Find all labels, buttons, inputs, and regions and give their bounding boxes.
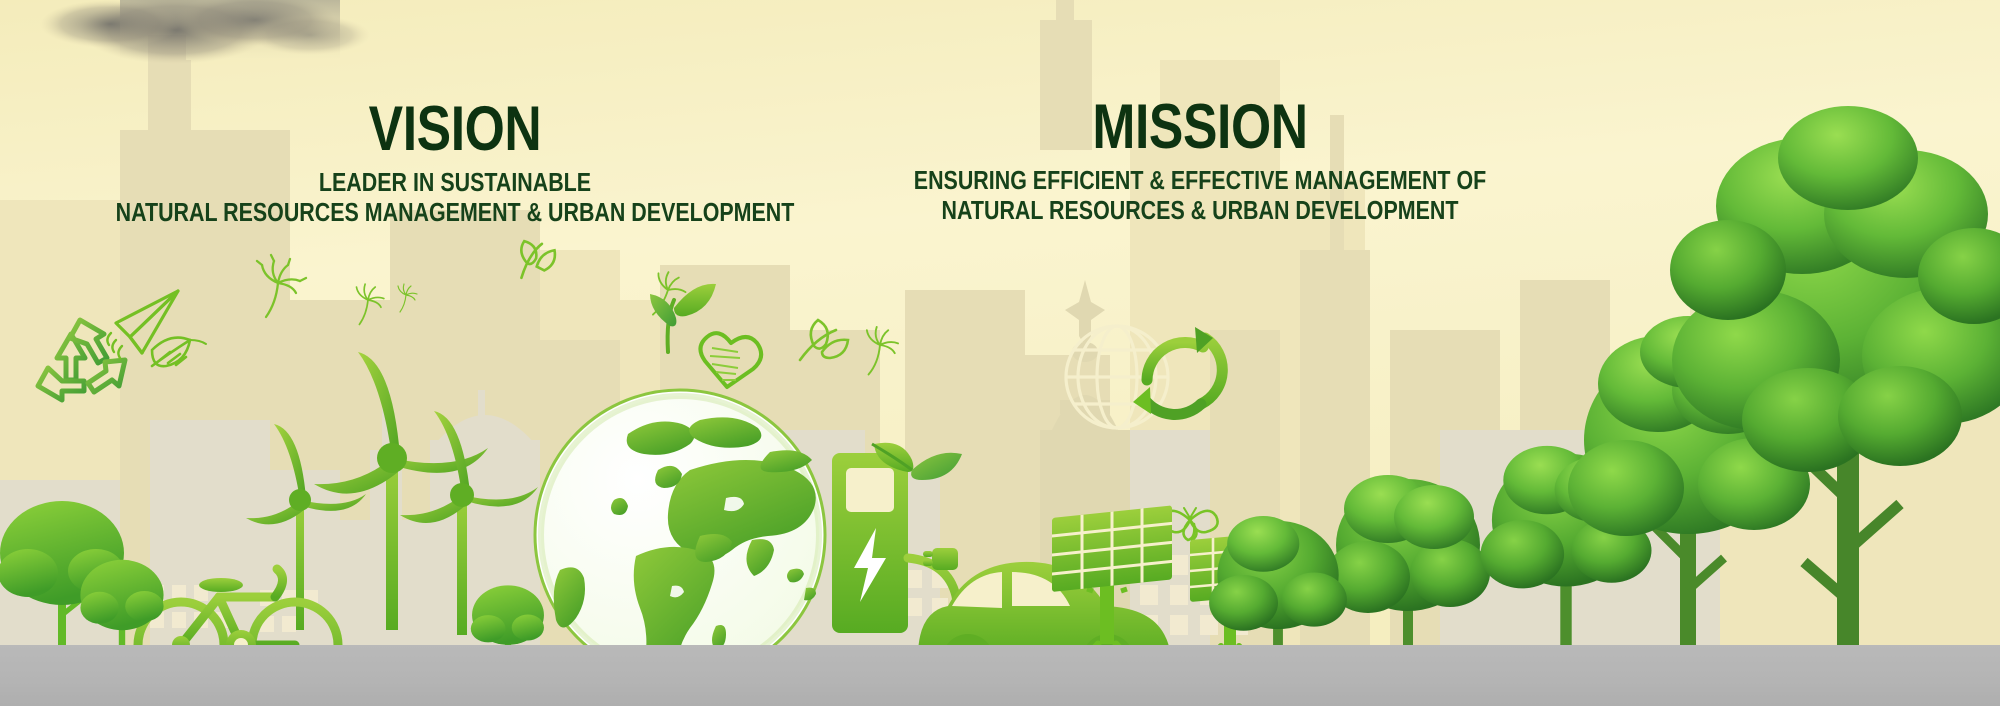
eco-vision-mission-banner: VISION LEADER IN SUSTAINABLE NATURAL RES… bbox=[0, 0, 2000, 706]
road-strip bbox=[0, 645, 2000, 706]
mission-subtitle-line1: ENSURING EFFICIENT & EFFECTIVE MANAGEMEN… bbox=[914, 167, 1486, 195]
mission-subtitle-line2: NATURAL RESOURCES & URBAN DEVELOPMENT bbox=[696, 196, 1704, 226]
mission-text-block: MISSION ENSURING EFFICIENT & EFFECTIVE M… bbox=[600, 98, 1800, 226]
vision-subtitle-line1: LEADER IN SUSTAINABLE bbox=[319, 169, 591, 197]
mission-heading: MISSION bbox=[708, 98, 1692, 158]
mission-subtitle: ENSURING EFFICIENT & EFFECTIVE MANAGEMEN… bbox=[696, 166, 1704, 226]
